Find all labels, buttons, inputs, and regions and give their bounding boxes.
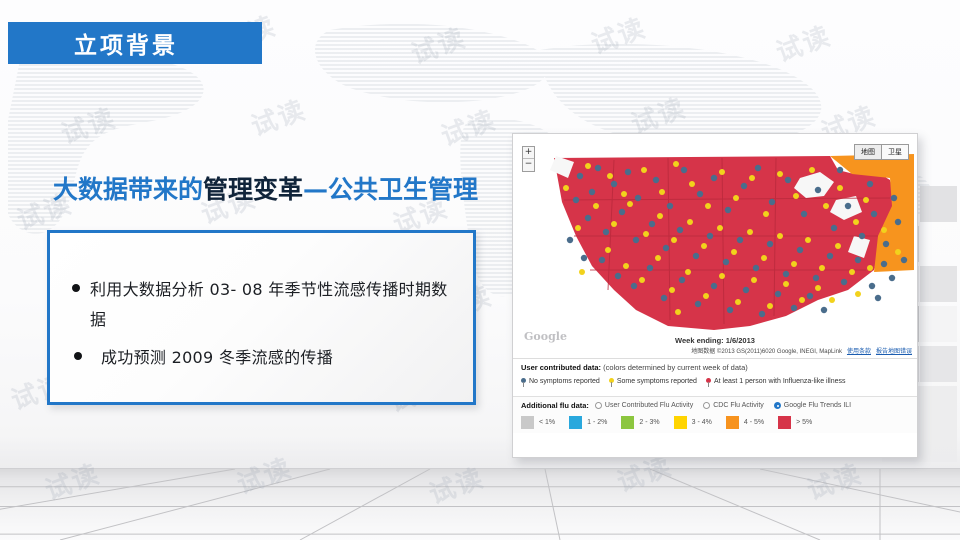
- bullet-text: 成功预测 2009 冬季流感的传播: [101, 343, 333, 373]
- pin-legend-label: At least 1 person with Influenza-like il…: [714, 376, 846, 388]
- terms-of-use-link[interactable]: 使用条款: [847, 349, 871, 355]
- additional-data-title: Additional flu data:: [521, 401, 589, 410]
- swatch-color: [569, 416, 582, 429]
- report-map-error-link[interactable]: 报告地图错误: [876, 349, 912, 355]
- scale-label: 2 - 3%: [639, 419, 659, 426]
- radio-option-label[interactable]: CDC Flu Activity: [713, 402, 764, 409]
- map-type-control[interactable]: 地图 卫星: [854, 144, 909, 160]
- google-logo: Google: [524, 330, 567, 343]
- slide-title-banner: 立项背景: [8, 22, 262, 64]
- scale-item: < 1%: [521, 416, 555, 429]
- scale-item: > 5%: [778, 416, 812, 429]
- scale-item: 3 - 4%: [674, 416, 712, 429]
- user-contributed-legend: User contributed data: (colors determine…: [513, 358, 917, 392]
- scale-label: 4 - 5%: [744, 419, 764, 426]
- radio-cdc-flu-icon[interactable]: [703, 402, 710, 409]
- page-title: 立项背景: [74, 26, 178, 60]
- scale-item: 2 - 3%: [621, 416, 659, 429]
- satellite-view-button[interactable]: 卫星: [882, 145, 908, 159]
- map-zoom-controls[interactable]: + −: [522, 146, 535, 172]
- heading-part-3: —公共卫生管理: [303, 175, 478, 204]
- slide-root: 试读 试读 试读 试读 试读 试读 试读 试读 试读 试读 试读 试读 试读 试…: [0, 0, 960, 540]
- pin-red-icon: [706, 378, 711, 387]
- scale-label: 3 - 4%: [692, 419, 712, 426]
- scale-label: > 5%: [796, 419, 812, 426]
- zoom-out-button[interactable]: −: [523, 159, 534, 171]
- swatch-color: [778, 416, 791, 429]
- user-data-heading: User contributed data: (colors determine…: [521, 362, 909, 374]
- pin-legend-label: No symptoms reported: [529, 376, 600, 388]
- swatch-color: [621, 416, 634, 429]
- section-heading: 大数据带来的管理变革—公共卫生管理: [53, 170, 478, 206]
- bullet-dot-icon: [72, 284, 80, 292]
- scale-item: 1 - 2%: [569, 416, 607, 429]
- radio-option-label[interactable]: Google Flu Trends ILI: [784, 402, 851, 409]
- scale-item: 4 - 5%: [726, 416, 764, 429]
- intensity-scale-legend: < 1% 1 - 2% 2 - 3% 3 - 4% 4 - 5%: [521, 416, 909, 429]
- attribution-text: 地图数据 ©2013 GS(2011)6020 Google, INEGI, M…: [691, 349, 842, 355]
- pin-blue-icon: [521, 378, 526, 387]
- map-attribution: 地图数据 ©2013 GS(2011)6020 Google, INEGI, M…: [691, 346, 912, 355]
- swatch-color: [521, 416, 534, 429]
- bullet-callout-box: 利用大数据分析 03- 08 年季节性流感传播时期数据 成功预测 2009 冬季…: [47, 230, 476, 405]
- bullet-text: 利用大数据分析 03- 08 年季节性流感传播时期数据: [90, 275, 455, 335]
- flu-trends-map-panel: + − 地图 卫星 Google Week ending: 1/6/2013 地…: [512, 133, 918, 458]
- scale-label: < 1%: [539, 419, 555, 426]
- radio-google-flu-trends-icon[interactable]: [774, 402, 781, 409]
- heading-part-1: 大数据带来的: [53, 175, 203, 204]
- map-canvas[interactable]: + − 地图 卫星 Google: [518, 140, 914, 346]
- additional-flu-data-legend: Additional flu data: User Contributed Fl…: [513, 396, 917, 433]
- map-graphic: [518, 140, 914, 346]
- bullet-list: 利用大数据分析 03- 08 年季节性流感传播时期数据 成功预测 2009 冬季…: [50, 233, 473, 402]
- swatch-color: [726, 416, 739, 429]
- bullet-dot-icon: [74, 352, 82, 360]
- swatch-color: [674, 416, 687, 429]
- list-item: 成功预测 2009 冬季流感的传播: [72, 343, 455, 373]
- radio-option-label[interactable]: User Contributed Flu Activity: [605, 402, 693, 409]
- radio-user-contributed-icon[interactable]: [595, 402, 602, 409]
- list-item: 利用大数据分析 03- 08 年季节性流感传播时期数据: [72, 275, 455, 335]
- pin-legend-label: Some symptoms reported: [617, 376, 697, 388]
- user-data-title: User contributed data:: [521, 363, 601, 372]
- floor-grid: [0, 468, 960, 540]
- pin-legend-row: No symptoms reported Some symptoms repor…: [521, 376, 909, 388]
- pin-yellow-icon: [609, 378, 614, 387]
- heading-part-2: 管理变革: [203, 175, 303, 204]
- week-ending-label: Week ending: 1/6/2013: [675, 336, 755, 345]
- zoom-in-button[interactable]: +: [523, 147, 534, 159]
- user-data-subtitle: (colors determined by current week of da…: [603, 363, 748, 372]
- flu-data-source-options: Additional flu data: User Contributed Fl…: [521, 401, 909, 410]
- map-view-button[interactable]: 地图: [855, 145, 882, 159]
- scale-label: 1 - 2%: [587, 419, 607, 426]
